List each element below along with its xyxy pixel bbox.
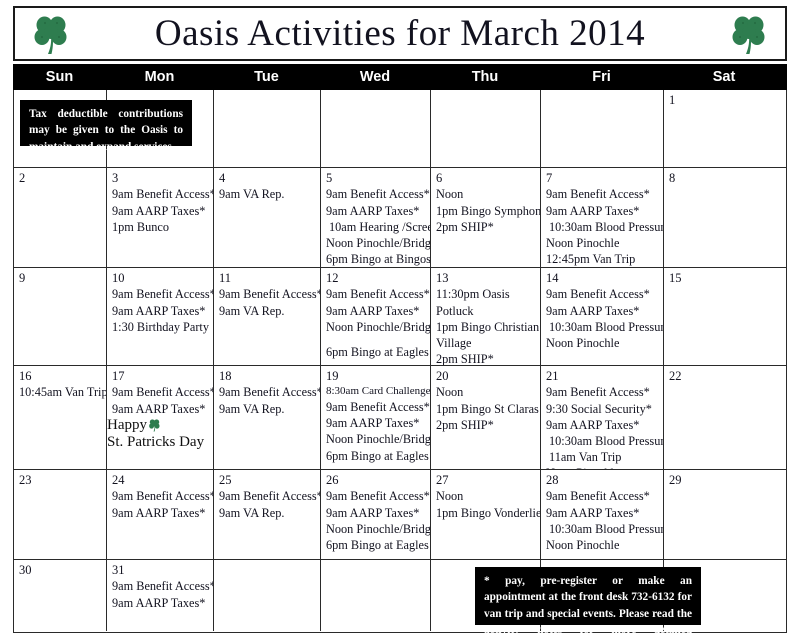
day-number: 8 — [669, 171, 782, 185]
day-cell-empty[interactable] — [541, 90, 664, 167]
weekday-header-wed: Wed — [320, 64, 430, 90]
event-item: 9:30 Social Security* — [546, 401, 659, 417]
event-item: 9am AARP Taxes* — [112, 401, 209, 417]
day-number: 30 — [19, 563, 102, 577]
event-item: 9am Benefit Access* — [112, 286, 209, 302]
event-item: 6pm Bingo at Eagles — [326, 537, 426, 553]
event-item: 9am VA Rep. — [219, 401, 316, 417]
day-cell-6[interactable]: 6Noon1pm Bingo Symphony2pm SHIP* — [431, 168, 541, 267]
event-item: 9am AARP Taxes* — [326, 415, 426, 431]
event-spacer — [326, 335, 426, 344]
day-cell-23[interactable]: 23 — [14, 470, 107, 559]
day-cell-20[interactable]: 20Noon1pm Bingo St Claras2pm SHIP* — [431, 366, 541, 469]
st-patricks-line2: St. Patricks Day — [107, 434, 207, 451]
event-item: 9am AARP Taxes* — [546, 505, 659, 521]
day-cell-7[interactable]: 79am Benefit Access*9am AARP Taxes*10:30… — [541, 168, 664, 267]
weekday-header-tue: Tue — [213, 64, 320, 90]
day-cell-11[interactable]: 119am Benefit Access*9am VA Rep. — [214, 268, 321, 365]
event-item: Noon Pinochle — [546, 537, 659, 553]
day-cell-2[interactable]: 2 — [14, 168, 107, 267]
day-cell-5[interactable]: 59am Benefit Access*9am AARP Taxes*10am … — [321, 168, 431, 267]
day-cell-15[interactable]: 15 — [664, 268, 786, 365]
event-item: 10am Hearing /Screen* — [326, 219, 426, 235]
day-number: 11 — [219, 271, 316, 285]
weekday-header-sat: Sat — [663, 64, 785, 90]
calendar-week-row: 239am Benefit Access*9am AARP Taxes*1pm … — [14, 168, 786, 268]
calendar-grid: 1239am Benefit Access*9am AARP Taxes*1pm… — [13, 90, 787, 633]
title-banner: Oasis Activities for March 2014 — [13, 6, 787, 61]
event-item: 9am Benefit Access* — [112, 488, 209, 504]
event-item: 1pm Bingo St Claras — [436, 401, 536, 417]
event-item: 9am Benefit Access* — [219, 286, 316, 302]
day-cell-empty[interactable] — [214, 560, 321, 631]
st-patricks-day-graphic: Happy St. Patricks Day — [107, 417, 207, 451]
event-item: Noon Pinochle/Bridge — [326, 235, 426, 251]
day-number: 1 — [669, 93, 782, 107]
event-item: 9am Benefit Access* — [219, 488, 316, 504]
day-cell-19[interactable]: 198:30am Card Challenge9am Benefit Acces… — [321, 366, 431, 469]
day-number: 29 — [669, 473, 782, 487]
day-number: 15 — [669, 271, 782, 285]
weekday-header-row: SunMonTueWedThuFriSat — [13, 64, 787, 90]
day-cell-14[interactable]: 149am Benefit Access*9am AARP Taxes*10:3… — [541, 268, 664, 365]
day-number: 23 — [19, 473, 102, 487]
day-number: 6 — [436, 171, 536, 185]
calendar-week-row: 23249am Benefit Access*9am AARP Taxes*25… — [14, 470, 786, 560]
event-item: Noon Pinochle/Bridge — [326, 521, 426, 537]
day-number: 26 — [326, 473, 426, 487]
event-item: 9am Benefit Access* — [326, 488, 426, 504]
day-number: 12 — [326, 271, 426, 285]
day-number: 21 — [546, 369, 659, 383]
weekday-header-sun: Sun — [13, 64, 106, 90]
event-item: 1pm Bingo Christian — [436, 319, 536, 335]
event-item: 8:30am Card Challenge — [326, 384, 426, 399]
day-cell-31[interactable]: 319am Benefit Access*9am AARP Taxes* — [107, 560, 214, 631]
event-item: 9am AARP Taxes* — [546, 417, 659, 433]
event-item: 1pm Bingo Vonderlieth — [436, 505, 536, 521]
event-item: 9am Benefit Access* — [326, 186, 426, 202]
day-cell-26[interactable]: 269am Benefit Access*9am AARP Taxes*Noon… — [321, 470, 431, 559]
event-item: 9am AARP Taxes* — [326, 203, 426, 219]
weekday-header-fri: Fri — [540, 64, 663, 90]
day-number: 4 — [219, 171, 316, 185]
event-item: Potluck — [436, 303, 536, 319]
day-number: 25 — [219, 473, 316, 487]
calendar-week-row: 9109am Benefit Access*9am AARP Taxes*1:3… — [14, 268, 786, 366]
event-item: 2pm SHIP* — [436, 417, 536, 433]
weekday-header-thu: Thu — [430, 64, 540, 90]
event-item: 11am Van Trip — [546, 449, 659, 465]
day-cell-12[interactable]: 129am Benefit Access*9am AARP Taxes*Noon… — [321, 268, 431, 365]
shamrock-icon — [729, 13, 769, 55]
day-cell-1[interactable]: 1 — [664, 90, 786, 167]
day-number: 2 — [19, 171, 102, 185]
day-cell-28[interactable]: 289am Benefit Access*9am AARP Taxes*10:3… — [541, 470, 664, 559]
event-item: 9am AARP Taxes* — [546, 203, 659, 219]
event-item: 9am Benefit Access* — [546, 186, 659, 202]
event-item: 9am AARP Taxes* — [112, 303, 209, 319]
event-item: 1:30 Birthday Party — [112, 319, 209, 335]
day-cell-empty[interactable] — [321, 560, 431, 631]
day-cell-3[interactable]: 39am Benefit Access*9am AARP Taxes*1pm B… — [107, 168, 214, 267]
day-cell-18[interactable]: 189am Benefit Access*9am VA Rep. — [214, 366, 321, 469]
event-item: 9am VA Rep. — [219, 186, 316, 202]
event-item: 10:30am Blood Pressure — [546, 319, 659, 335]
tax-deductible-note: Tax deductible contributions may be give… — [20, 100, 192, 146]
event-item: Noon — [436, 488, 536, 504]
event-item: 9am VA Rep. — [219, 505, 316, 521]
day-number: 13 — [436, 271, 536, 285]
event-item: 6pm Bingo at Eagles — [326, 448, 426, 464]
event-item: 6pm Bingo at Eagles — [326, 344, 426, 360]
day-number: 16 — [19, 369, 102, 383]
day-cell-9[interactable]: 9 — [14, 268, 107, 365]
event-item: 9am AARP Taxes* — [112, 595, 209, 611]
event-item: 9am AARP Taxes* — [326, 505, 426, 521]
event-item: Noon Pinochle/Bridge — [326, 431, 426, 447]
day-number: 24 — [112, 473, 209, 487]
day-number: 20 — [436, 369, 536, 383]
day-number: 3 — [112, 171, 209, 185]
day-cell-empty[interactable] — [431, 90, 541, 167]
shamrock-icon — [31, 13, 71, 55]
event-item: 9am Benefit Access* — [112, 578, 209, 594]
day-number: 9 — [19, 271, 102, 285]
event-item: 10:30am Blood Pressure — [546, 433, 659, 449]
event-item: Village — [436, 335, 536, 351]
event-item: 10:45am Van Trip — [19, 384, 102, 400]
weekday-header-mon: Mon — [106, 64, 213, 90]
event-item: 9am Benefit Access* — [112, 384, 209, 400]
event-item: 6pm Bingo at Bingos — [326, 251, 426, 267]
day-cell-24[interactable]: 249am Benefit Access*9am AARP Taxes* — [107, 470, 214, 559]
event-item: Noon Pinochle — [546, 235, 659, 251]
calendar-page: Oasis Activities for March 2014 SunMonTu… — [0, 0, 800, 643]
event-item: Noon Pinochle — [546, 465, 659, 469]
event-item: 1pm Bunco — [112, 219, 209, 235]
day-number: 28 — [546, 473, 659, 487]
day-cell-22[interactable]: 22 — [664, 366, 786, 469]
event-item: 12:45pm Van Trip — [546, 251, 659, 267]
day-cell-empty[interactable] — [321, 90, 431, 167]
event-item: 9am Benefit Access* — [326, 399, 426, 415]
event-item: 9am Benefit Access* — [546, 384, 659, 400]
event-item: 9am VA Rep. — [219, 303, 316, 319]
st-patricks-line1: Happy — [107, 417, 147, 434]
day-number: 14 — [546, 271, 659, 285]
day-number: 7 — [546, 171, 659, 185]
day-cell-13[interactable]: 1311:30pm OasisPotluck1pm Bingo Christia… — [431, 268, 541, 365]
event-item: Noon Pinochle/Bridge — [326, 319, 426, 335]
event-item: 9am AARP Taxes* — [112, 203, 209, 219]
day-number: 17 — [112, 369, 209, 383]
day-number: 18 — [219, 369, 316, 383]
event-item: 10:30am Blood Pressure — [546, 219, 659, 235]
event-item: Noon — [436, 384, 536, 400]
footnote-note: * pay, pre-register or make an appointme… — [475, 567, 701, 625]
event-item: Noon Pinochle — [546, 335, 659, 351]
day-cell-21[interactable]: 219am Benefit Access*9:30 Social Securit… — [541, 366, 664, 469]
day-cell-30[interactable]: 30 — [14, 560, 107, 631]
day-number: 19 — [326, 369, 426, 383]
day-cell-25[interactable]: 259am Benefit Access*9am VA Rep. — [214, 470, 321, 559]
event-item: 11:30pm Oasis — [436, 286, 536, 302]
day-cell-27[interactable]: 27Noon1pm Bingo Vonderlieth — [431, 470, 541, 559]
day-cell-29[interactable]: 29 — [664, 470, 786, 559]
day-number: 27 — [436, 473, 536, 487]
event-item: 2pm SHIP* — [436, 351, 536, 365]
event-item: 9am AARP Taxes* — [546, 303, 659, 319]
event-item: 9am AARP Taxes* — [112, 505, 209, 521]
event-item: 9am Benefit Access* — [326, 286, 426, 302]
event-item: 10:30am Blood Pressure — [546, 521, 659, 537]
event-item: 9am Benefit Access* — [112, 186, 209, 202]
event-item: 1pm Bingo Symphony — [436, 203, 536, 219]
day-number: 31 — [112, 563, 209, 577]
day-number: 5 — [326, 171, 426, 185]
event-item: Noon — [436, 186, 536, 202]
day-cell-10[interactable]: 109am Benefit Access*9am AARP Taxes*1:30… — [107, 268, 214, 365]
day-number: 22 — [669, 369, 782, 383]
event-item: 9am Benefit Access* — [219, 384, 316, 400]
shamrock-icon — [148, 418, 161, 432]
day-cell-8[interactable]: 8 — [664, 168, 786, 267]
event-item: 9am AARP Taxes* — [326, 303, 426, 319]
day-cell-empty[interactable] — [214, 90, 321, 167]
day-cell-16[interactable]: 1610:45am Van Trip — [14, 366, 107, 469]
day-cell-4[interactable]: 49am VA Rep. — [214, 168, 321, 267]
page-title: Oasis Activities for March 2014 — [71, 12, 729, 55]
event-item: 9am Benefit Access* — [546, 488, 659, 504]
event-item: 9am Benefit Access* — [546, 286, 659, 302]
day-number: 10 — [112, 271, 209, 285]
event-item: 2pm SHIP* — [436, 219, 536, 235]
